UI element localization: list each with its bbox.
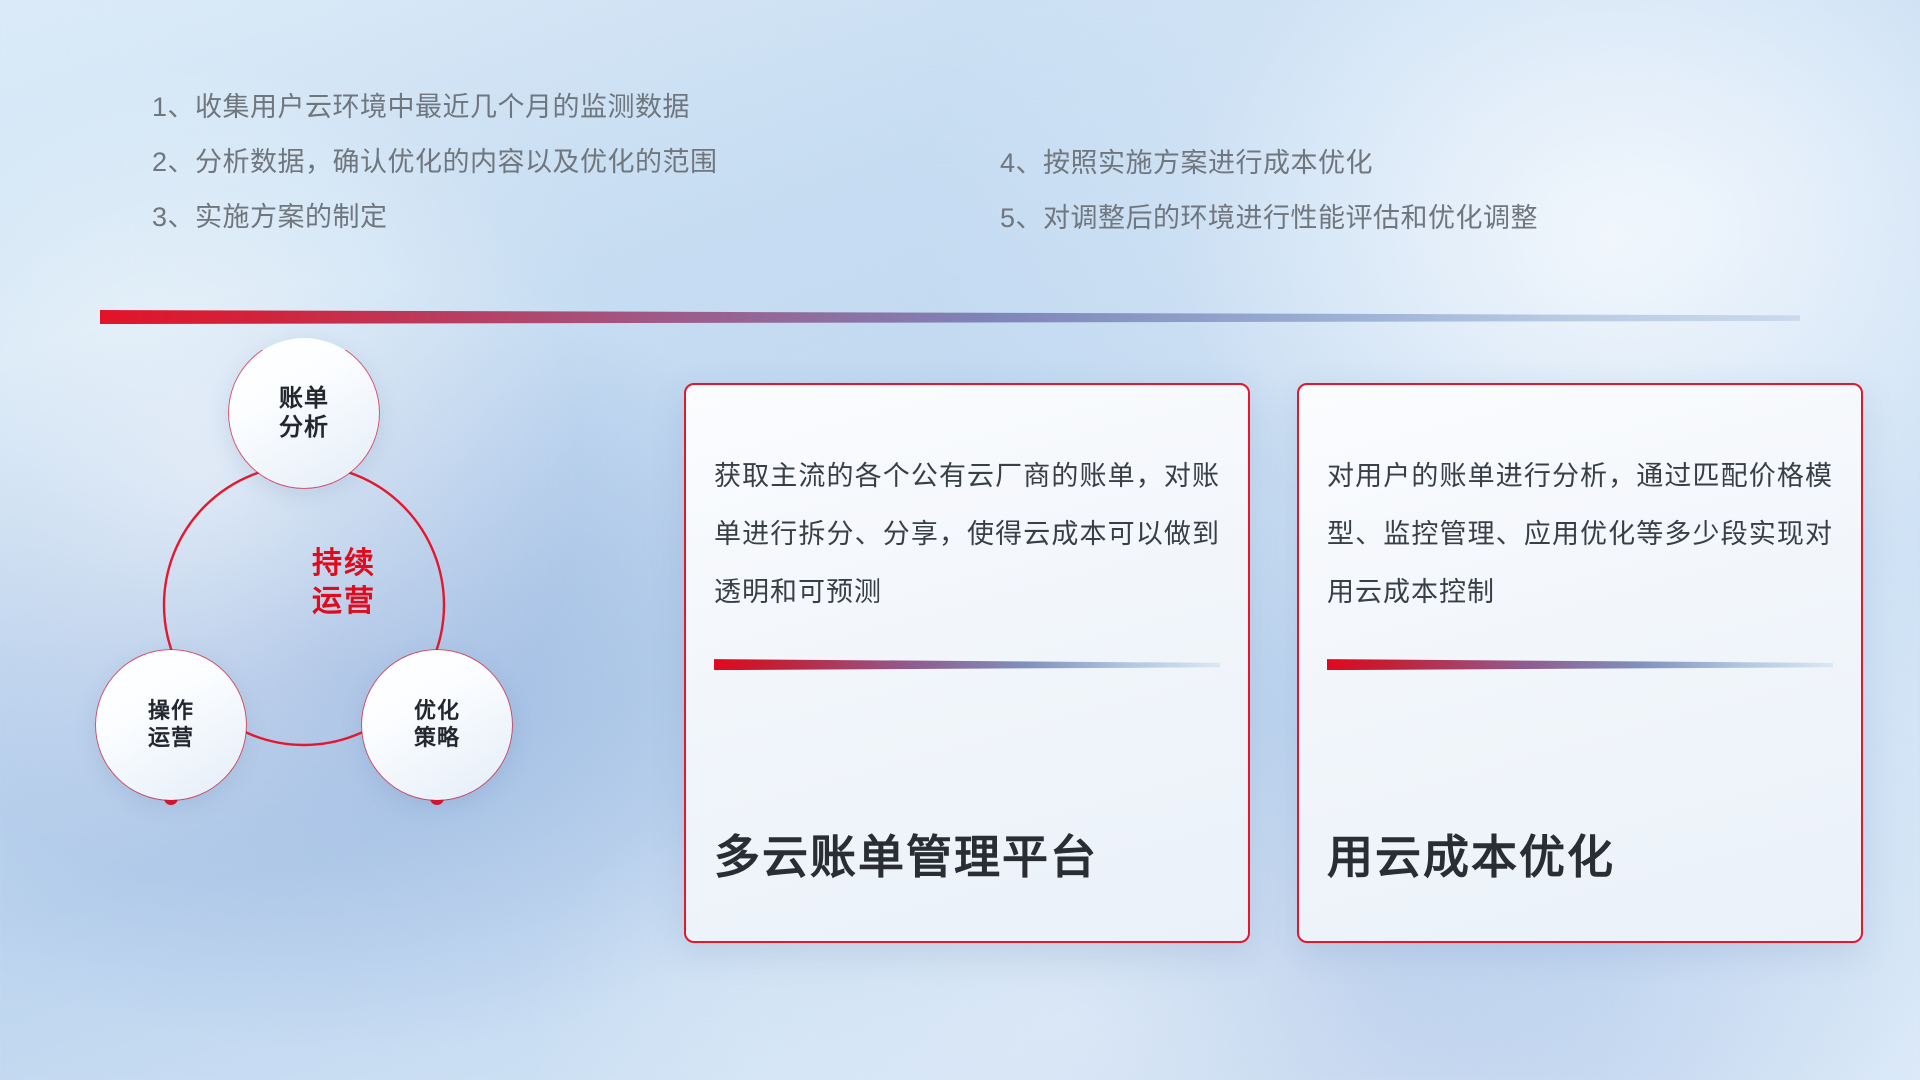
bubble-label: 操作运营 (148, 698, 194, 752)
list-item: 5、对调整后的环境进行性能评估和优化调整 (1000, 205, 1538, 232)
bubble-operations[interactable]: 操作运营 (96, 650, 246, 800)
list-item: 4、按照实施方案进行成本优化 (1000, 150, 1538, 177)
venn-center-line-2: 运营 (128, 583, 560, 621)
steps-list-right: 4、按照实施方案进行成本优化 5、对调整后的环境进行性能评估和优化调整 (1000, 150, 1538, 260)
card-rule (714, 659, 1220, 670)
venn-center-label: 持续 运营 (90, 545, 560, 620)
section-divider (100, 310, 1800, 324)
card-rule (1327, 659, 1833, 670)
card-multicloud-billing[interactable]: 获取主流的各个公有云厂商的账单，对账单进行拆分、分享，使得云成本可以做到透明和可… (684, 383, 1250, 943)
card-cloud-cost-optimization[interactable]: 对用户的账单进行分析，通过匹配价格模型、监控管理、应用优化等多少段实现对用云成本… (1297, 383, 1863, 943)
steps-list-left: 1、收集用户云环境中最近几个月的监测数据 2、分析数据，确认优化的内容以及优化的… (152, 94, 718, 259)
continuous-operation-diagram: 账单分析 操作运营 优化策略 持续 运营 (90, 350, 560, 850)
bubble-label: 优化策略 (414, 698, 460, 752)
card-title: 多云账单管理平台 (714, 832, 1220, 913)
card-title: 用云成本优化 (1327, 832, 1833, 913)
card-body-text: 获取主流的各个公有云厂商的账单，对账单进行拆分、分享，使得云成本可以做到透明和可… (714, 419, 1220, 621)
card-inner: 获取主流的各个公有云厂商的账单，对账单进行拆分、分享，使得云成本可以做到透明和可… (714, 419, 1220, 913)
list-item: 2、分析数据，确认优化的内容以及优化的范围 (152, 149, 718, 176)
card-inner: 对用户的账单进行分析，通过匹配价格模型、监控管理、应用优化等多少段实现对用云成本… (1327, 419, 1833, 913)
venn-center-line-1: 持续 (128, 545, 560, 583)
list-item: 1、收集用户云环境中最近几个月的监测数据 (152, 94, 718, 121)
bubble-bill-analysis[interactable]: 账单分析 (229, 338, 379, 488)
divider-bar (100, 310, 1800, 324)
list-item: 3、实施方案的制定 (152, 204, 718, 231)
bubble-label: 账单分析 (279, 384, 329, 443)
bubble-optimization-strategy[interactable]: 优化策略 (362, 650, 512, 800)
card-body-text: 对用户的账单进行分析，通过匹配价格模型、监控管理、应用优化等多少段实现对用云成本… (1327, 419, 1833, 621)
